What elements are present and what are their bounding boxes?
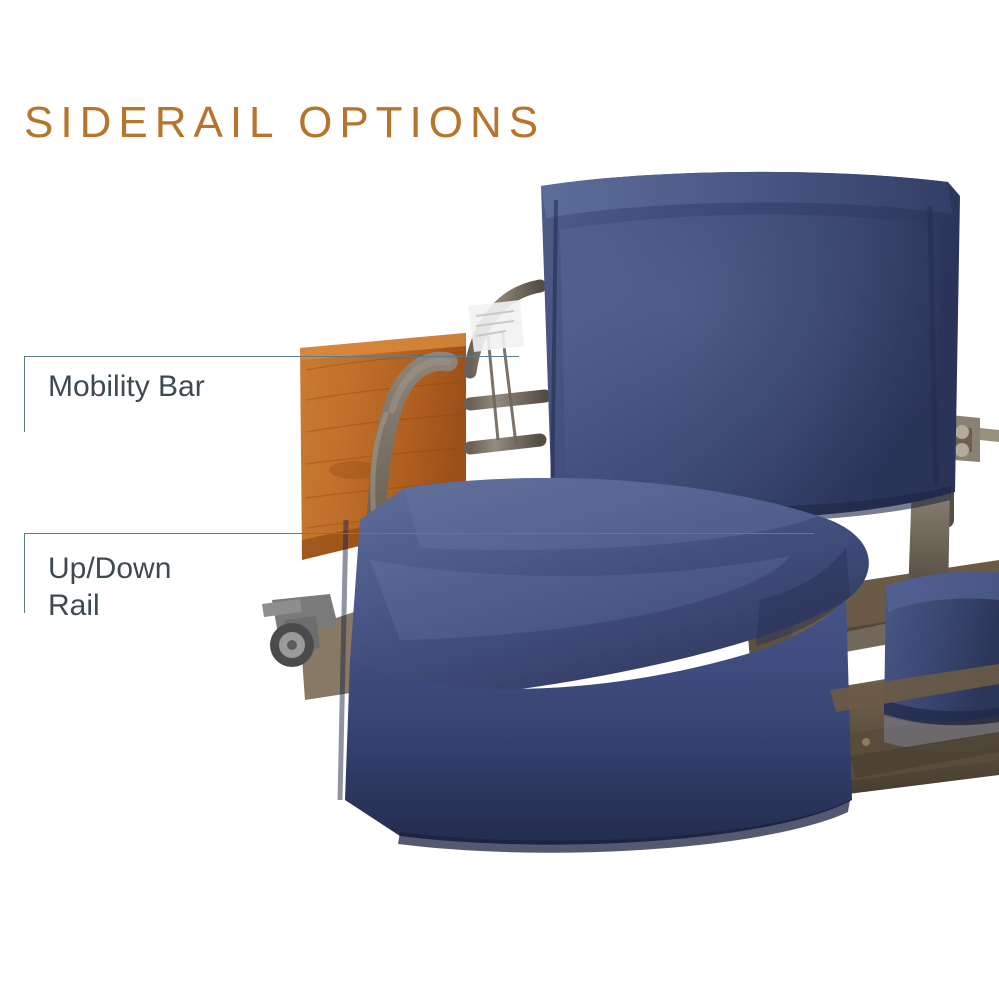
bed-deck-rail [830, 664, 999, 778]
second-mattress [884, 572, 999, 752]
leader-line-mobility-bar-horizontal [24, 356, 519, 357]
rail-tag [468, 300, 524, 352]
bed-frame [300, 560, 999, 800]
product-photo-page: SIDERAIL OPTIONS Mobility Bar Up/Down Ra… [0, 0, 999, 999]
mobility-bar [368, 361, 448, 672]
callout-label-mobility-bar: Mobility Bar [48, 369, 205, 406]
mattress-seat [340, 478, 869, 853]
page-title: SIDERAIL OPTIONS [24, 98, 545, 148]
leader-line-up-down-rail-horizontal [24, 533, 814, 534]
leader-line-up-down-rail-vertical [24, 533, 25, 613]
wood-headboard [300, 333, 466, 560]
leader-line-mobility-bar-vertical [24, 356, 25, 432]
right-siderail-bracket [900, 410, 999, 462]
up-down-rail [470, 286, 545, 470]
bed-photo [0, 0, 999, 999]
caster-wheel [262, 594, 338, 667]
right-siderail-post [908, 480, 950, 604]
callout-label-up-down-rail: Up/Down Rail [48, 551, 171, 624]
mattress-backrest [541, 172, 960, 522]
right-siderail [876, 290, 946, 560]
up-down-rail-detail [488, 330, 516, 444]
